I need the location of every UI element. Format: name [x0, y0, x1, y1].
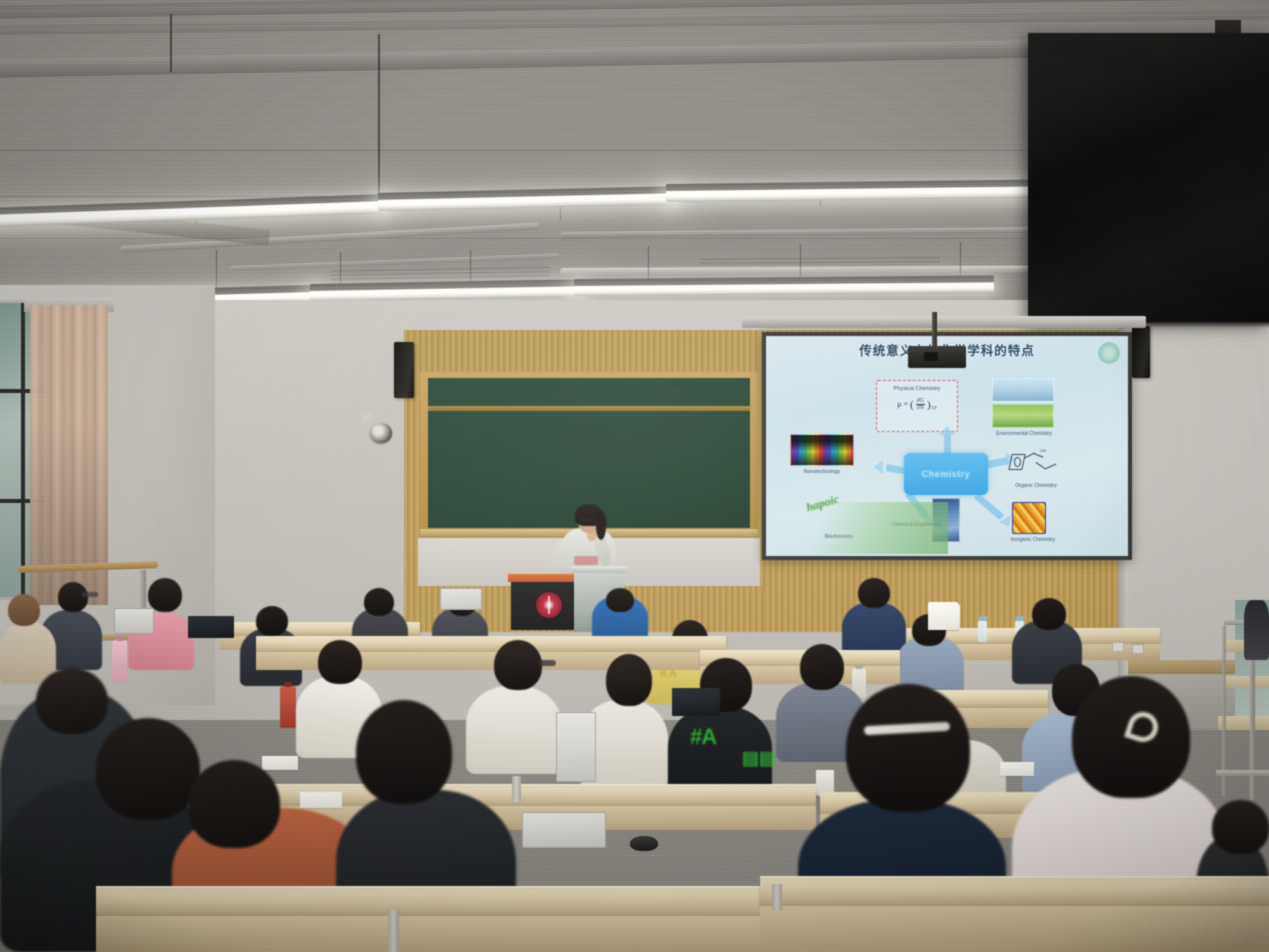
university-seal-watermark: [1098, 342, 1120, 364]
wall-speaker: [394, 342, 414, 398]
dome-security-camera: [370, 423, 392, 443]
equation-mu: μ =: [897, 400, 908, 409]
wall-mounted-display[interactable]: [1028, 33, 1269, 323]
paper-sheet: [262, 756, 298, 770]
ceiling-conduit-bundle: [700, 256, 940, 266]
benzene-structure-diagram: OH: [1006, 450, 1062, 482]
branch-label-environmental-chemistry: Environmental Chemistry: [974, 431, 1074, 437]
computer-mouse: [630, 836, 658, 851]
aisle-seat: [1222, 676, 1269, 688]
equation-denominator: ∂N: [917, 405, 924, 411]
slide-center-label: Chemistry: [922, 469, 971, 479]
shirt-graphic: #A: [690, 724, 716, 750]
student-desk-front: [96, 916, 776, 952]
laptop-computer: [672, 688, 720, 716]
environment-photo-thumbnail: [992, 376, 1054, 402]
slide-arrow: [974, 493, 1005, 520]
lecturer-glasses: [580, 518, 597, 522]
eyeglasses: [82, 592, 98, 597]
student-desk: [760, 876, 1269, 906]
ceiling-hanger: [170, 14, 172, 72]
student-desk-front: [760, 906, 1269, 952]
lecturer-hair: [596, 512, 606, 540]
ceiling-hanger: [378, 34, 380, 212]
wood-wall-paneling: [760, 560, 1164, 632]
paper-sheet: [300, 792, 342, 808]
water-bottle: [978, 620, 987, 642]
environment-photo-thumbnail: [992, 404, 1054, 428]
desk-edge: [236, 784, 816, 787]
desk-divider: [388, 910, 399, 952]
slide-center-node: Chemistry: [904, 453, 988, 495]
projector-mount-arm: [932, 312, 937, 350]
physical-chemistry-label: Physical Chemistry: [877, 386, 957, 392]
university-crest-emblem: [536, 592, 562, 618]
eyeglasses: [538, 660, 556, 666]
projection-screen-housing: [742, 316, 1146, 328]
thermos-flask: [280, 686, 296, 728]
shirt-graphic: ▤▤: [742, 748, 776, 769]
ceiling-pipe: [560, 227, 1040, 238]
desk-divider: [772, 884, 782, 910]
equation-subscript: T,P: [931, 405, 937, 410]
slide-content: 传统意义上的化学学科的特点 Physical Chemistry μ = ( ∂…: [768, 338, 1126, 554]
slide-arrow-head: [874, 460, 883, 474]
curtain-shadow: [30, 420, 108, 605]
branch-label-inorganic-chemistry: Inorganic Chemistry: [994, 537, 1072, 543]
physical-chemistry-box: Physical Chemistry μ = ( ∂G ∂N )T,P: [876, 380, 958, 432]
window-mullion: [21, 303, 25, 597]
laptop-computer: [556, 712, 596, 782]
chalkboard-slide-rail: [428, 406, 750, 411]
lectern-top: [571, 566, 627, 573]
laptop-computer: [440, 588, 482, 610]
slide-background-art: [768, 502, 948, 554]
paper-sheet: [1000, 762, 1034, 776]
slide-arrow-head: [939, 426, 955, 435]
wall-outlet: [1132, 644, 1144, 654]
nanotech-spectrum-thumbnail: [790, 434, 854, 466]
laptop-computer: [114, 608, 154, 634]
chemical-potential-equation: μ = ( ∂G ∂N )T,P: [877, 398, 957, 412]
branch-label-organic-chemistry: Organic Chemistry: [998, 483, 1074, 489]
wall-speaker: [1132, 326, 1150, 378]
wall-outlet: [1112, 642, 1124, 652]
desk-edge: [760, 876, 1269, 880]
branch-label-nanotechnology: Nanotechnology: [786, 469, 858, 475]
desk-divider: [512, 776, 521, 802]
laptop-computer: [522, 812, 606, 848]
laptop-computer: [188, 616, 234, 638]
water-bottle: [112, 640, 127, 682]
student-silhouette: [1244, 600, 1269, 660]
crystal-lattice-thumbnail: [1012, 502, 1046, 534]
student-desk: [96, 886, 776, 916]
stair-railing: [1216, 770, 1269, 776]
lecture-hall-photo: 传统意义上的化学学科的特点 Physical Chemistry μ = ( ∂…: [0, 0, 1269, 952]
desk-edge: [96, 886, 776, 890]
paper-notebook: [928, 602, 958, 630]
ceiling-projector: [908, 346, 966, 368]
